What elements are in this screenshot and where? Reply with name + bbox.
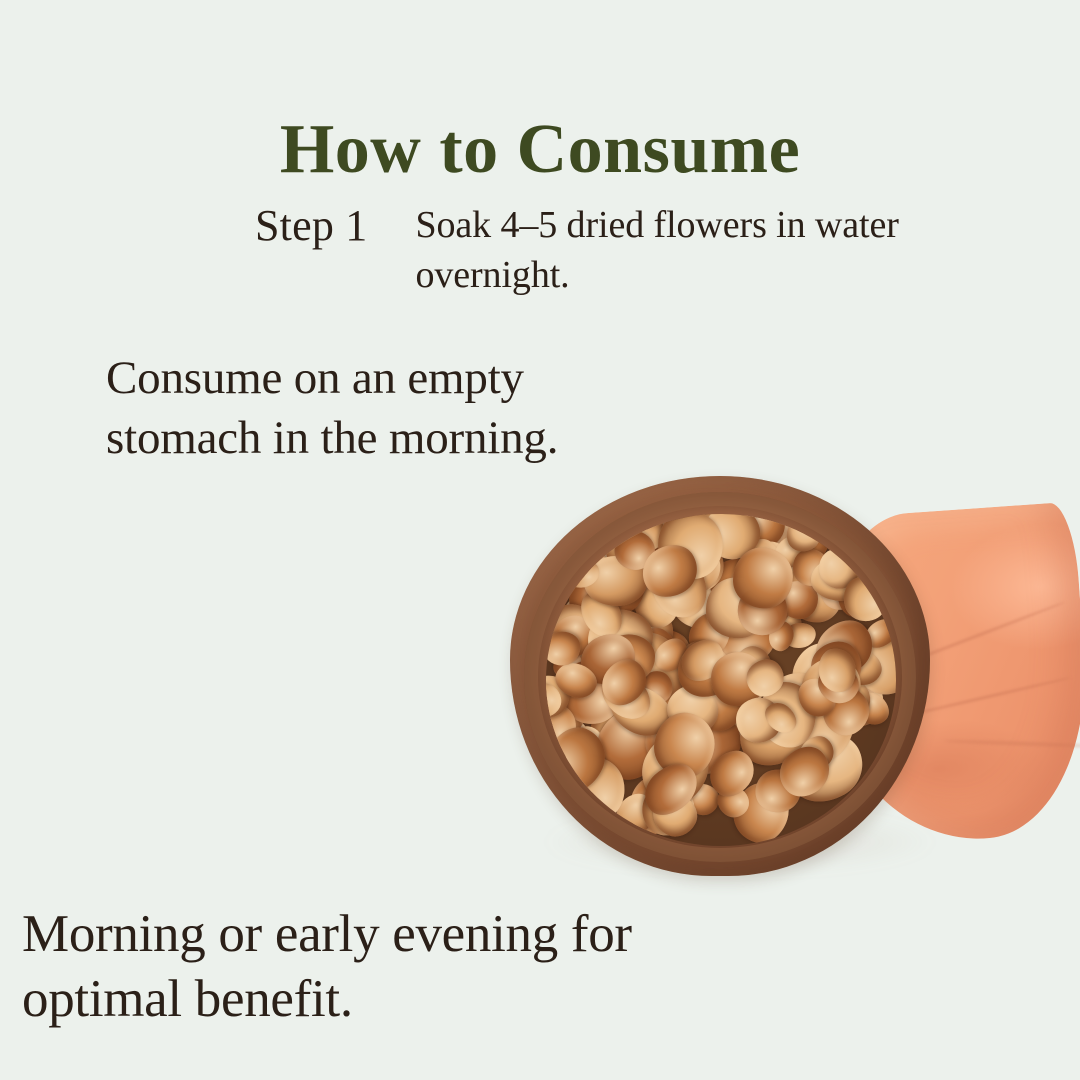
bowl-interior [546, 514, 896, 846]
hand-holding-bowl-photo [500, 462, 1080, 894]
step-instruction-text: Soak 4–5 dried flowers in water overnigh… [415, 200, 915, 300]
note-middle: Consume on an empty stomach in the morni… [106, 348, 666, 468]
poster-canvas: How to Consume Step 1 Soak 4–5 dried flo… [0, 0, 1080, 1080]
step-row: Step 1 Soak 4–5 dried flowers in water o… [255, 200, 955, 300]
page-title: How to Consume [0, 115, 1080, 185]
note-bottom: Morning or early evening for optimal ben… [22, 902, 702, 1032]
step-label: Step 1 [255, 200, 367, 252]
palm-crease [943, 739, 1080, 747]
dried-flowers-pile [546, 514, 896, 846]
wooden-bowl [510, 476, 930, 876]
